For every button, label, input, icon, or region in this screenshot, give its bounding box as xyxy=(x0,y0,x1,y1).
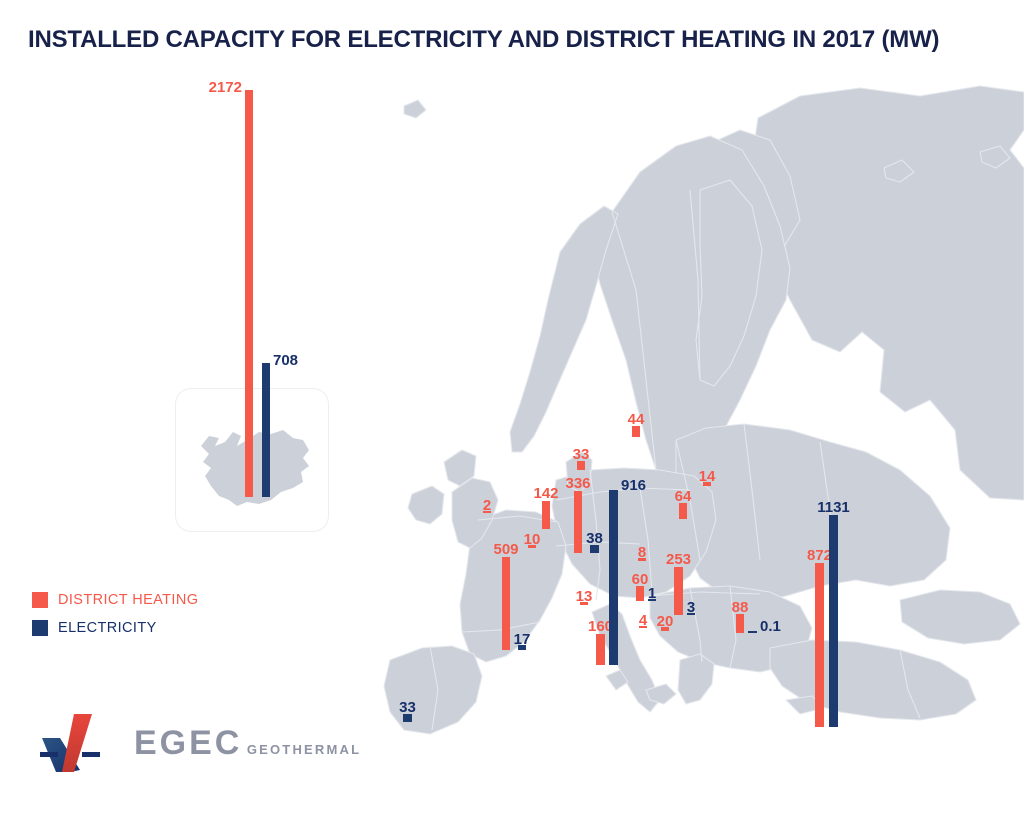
bar-sweden-dh[interactable]: 44 xyxy=(632,426,640,437)
legend-label-district-heating: DISTRICT HEATING xyxy=(58,592,198,608)
bar-value-label-slovenia-dh: 4 xyxy=(639,613,647,628)
bar-croatia-dh[interactable]: 20 xyxy=(661,627,669,631)
bar-portugal-el[interactable]: 33 xyxy=(403,714,412,722)
bar-value-label-croatia-dh: 20 xyxy=(657,614,674,629)
bar-value-label-iceland-dh: 2172 xyxy=(209,80,242,95)
bar-value-label-denmark-dh: 33 xyxy=(573,447,590,462)
bar-stem xyxy=(502,557,510,650)
bar-italy-dh[interactable]: 160 xyxy=(596,634,605,665)
electricity-swatch-icon xyxy=(32,620,48,636)
bar-iceland-dh[interactable]: 2172 xyxy=(245,90,253,497)
bar-value-label-sweden-dh: 44 xyxy=(628,412,645,427)
bar-hungary-el[interactable]: 3 xyxy=(687,613,695,615)
bar-ireland-dh[interactable]: 2 xyxy=(483,511,491,513)
bar-value-label-hungary-el: 3 xyxy=(687,600,695,615)
bar-austria-el[interactable]: 1 xyxy=(648,599,656,601)
bar-value-label-iceland-el: 708 xyxy=(273,353,298,368)
egec-logo: EGEC GEOTHERMAL xyxy=(40,712,361,774)
bar-value-label-ireland-dh: 2 xyxy=(483,498,491,513)
legend: DISTRICT HEATING ELECTRICITY xyxy=(32,592,198,648)
bar-value-label-czechia-dh: 8 xyxy=(638,545,646,560)
bar-denmark-dh[interactable]: 33 xyxy=(577,461,585,470)
bar-romania-el[interactable]: 0.1 xyxy=(748,631,757,633)
bar-value-label-austria-el: 1 xyxy=(648,586,656,601)
bar-netherlands-dh[interactable]: 142 xyxy=(542,501,550,529)
bar-value-label-portugal-el: 33 xyxy=(399,700,416,715)
bar-stem xyxy=(596,634,605,665)
bar-stem xyxy=(542,501,550,529)
bar-value-label-france-el: 17 xyxy=(514,632,531,647)
bar-value-label-poland-dh: 64 xyxy=(675,489,692,504)
bar-value-label-romania-el: 0.1 xyxy=(760,619,781,634)
bar-stem xyxy=(674,567,683,615)
bar-value-label-austria-dh: 60 xyxy=(632,572,649,587)
bar-value-label-switzerland-dh: 13 xyxy=(576,589,593,604)
europe-map xyxy=(0,0,1024,819)
bar-czechia-dh[interactable]: 8 xyxy=(638,558,646,561)
bar-italy-el[interactable]: 916 xyxy=(609,490,618,665)
bar-stem xyxy=(262,363,270,497)
bar-value-label-belgium-dh: 10 xyxy=(524,532,541,547)
bar-austria-dh[interactable]: 60 xyxy=(636,586,644,601)
egec-wordmark: EGEC GEOTHERMAL xyxy=(134,727,361,759)
bar-germany-el[interactable]: 38 xyxy=(590,545,599,553)
bar-stem xyxy=(679,503,687,519)
bar-value-label-hungary-dh: 253 xyxy=(666,552,691,567)
bar-slovenia-dh[interactable]: 4 xyxy=(639,626,647,628)
bar-value-label-france-dh: 509 xyxy=(493,542,518,557)
bar-stem xyxy=(636,586,644,601)
logo-name: EGEC xyxy=(134,724,242,762)
bar-turkey-el[interactable]: 1131 xyxy=(829,515,838,727)
bar-stem xyxy=(736,614,744,633)
bar-lithuania-dh[interactable]: 14 xyxy=(703,482,711,486)
district-heating-swatch-icon xyxy=(32,592,48,608)
bar-stem xyxy=(609,490,618,665)
infographic-root: INSTALLED CAPACITY FOR ELECTRICITY AND D… xyxy=(0,0,1024,819)
bar-stem xyxy=(245,90,253,497)
bar-romania-dh[interactable]: 88 xyxy=(736,614,744,633)
bar-value-label-romania-dh: 88 xyxy=(732,600,749,615)
bar-stem xyxy=(574,491,582,553)
bar-switzerland-dh[interactable]: 13 xyxy=(580,602,588,605)
egec-checkmark-icon xyxy=(40,712,124,774)
bar-iceland-el[interactable]: 708 xyxy=(262,363,270,497)
bar-value-label-turkey-el: 1131 xyxy=(817,500,850,515)
bar-france-el[interactable]: 17 xyxy=(518,645,526,650)
bar-poland-dh[interactable]: 64 xyxy=(679,503,687,519)
bar-value-label-italy-el: 916 xyxy=(621,478,646,493)
bar-germany-dh[interactable]: 336 xyxy=(574,491,582,553)
bar-hungary-dh[interactable]: 253 xyxy=(674,567,683,615)
bar-belgium-dh[interactable]: 10 xyxy=(528,545,536,548)
legend-item-electricity[interactable]: ELECTRICITY xyxy=(32,620,198,636)
bar-france-dh[interactable]: 509 xyxy=(502,557,510,650)
bar-stem xyxy=(748,631,757,633)
logo-subtitle: GEOTHERMAL xyxy=(247,742,361,757)
bar-value-label-germany-dh: 336 xyxy=(565,476,590,491)
bar-stem xyxy=(815,563,824,727)
bar-value-label-lithuania-dh: 14 xyxy=(699,469,716,484)
bar-value-label-germany-el: 38 xyxy=(586,531,603,546)
legend-label-electricity: ELECTRICITY xyxy=(58,620,157,636)
legend-item-district-heating[interactable]: DISTRICT HEATING xyxy=(32,592,198,608)
bar-stem xyxy=(829,515,838,727)
bar-turkey-dh[interactable]: 872 xyxy=(815,563,824,727)
bar-value-label-netherlands-dh: 142 xyxy=(533,486,558,501)
